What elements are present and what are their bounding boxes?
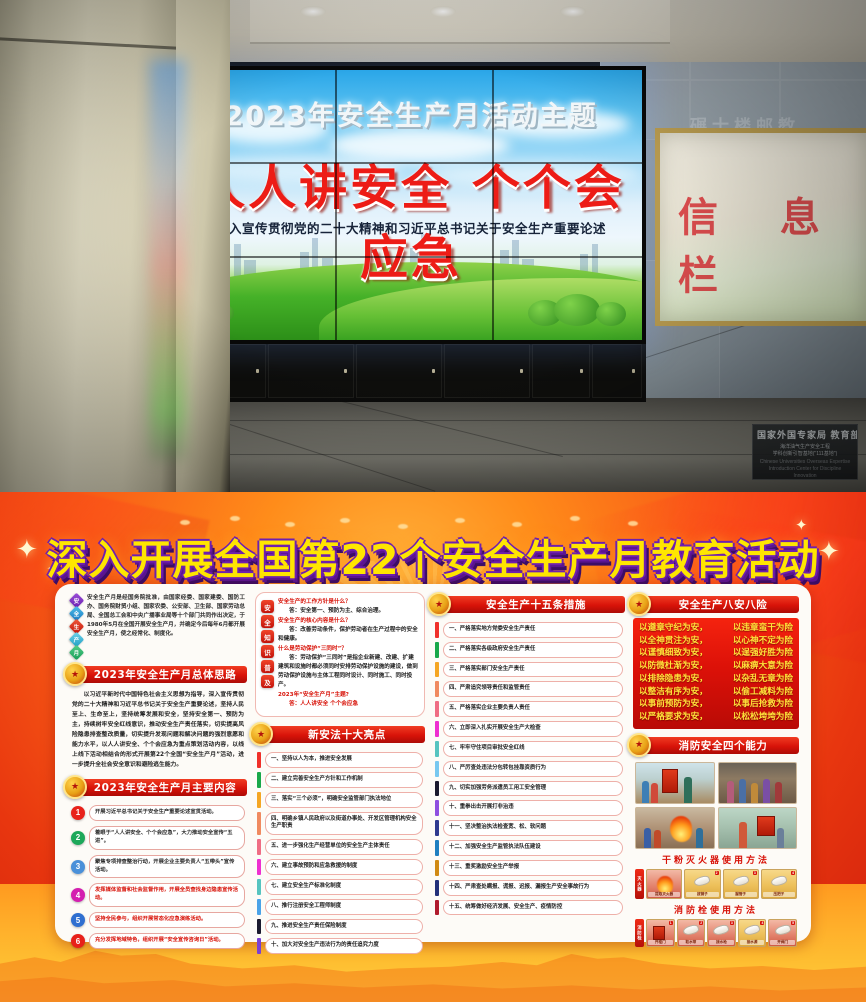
main-content-list: 1 开展习近平总书记关于安全生产重要论述宣贯活动。 2 着眼于“人人讲安全、个个… (69, 801, 247, 949)
item-text: 坚持全民参与，组织开展常态化应急演练活动。 (89, 912, 245, 928)
item-text: 十一、坚决整治执法检查宽、松、软问题 (443, 820, 623, 836)
section-title: 新安法十大亮点 (294, 727, 386, 742)
hand-icon (770, 874, 788, 888)
item-text: 六、建立事故预防和应急救援的制度 (265, 859, 423, 875)
fifteen-measures-list: 一、严格落实地方党委安全生产责任 二、严格落实各级政府安全生产责任 三、严格落实… (433, 618, 625, 915)
scene-evacuation (718, 762, 798, 804)
poster-headline: 深入开展全国第22个安全生产月教育活动 (0, 526, 866, 586)
list-item[interactable]: 六、建立事故预防和应急救援的制度 (257, 859, 423, 875)
emblem-icon: ★ (627, 733, 651, 757)
couplet-row: 以事前预防为安，以事后抢救为险 (636, 698, 796, 711)
list-item[interactable]: 十一、坚决整治执法检查宽、松、软问题 (435, 820, 623, 836)
color-tick (435, 900, 439, 916)
list-item[interactable]: 二、严格落实各级政府安全生产责任 (435, 642, 623, 658)
information-board-title: 信 息 栏 (678, 185, 866, 301)
color-tick (435, 820, 439, 836)
emblem-icon: ★ (627, 592, 651, 616)
safety-poster: ✦ ✦ ✦ ✦ 深入开展全国第22个安全生产月教育活动 安 全 生 产 月 (0, 492, 866, 1002)
item-text: 十四、严肃查处瞒报、谎报、迟报、漏报生产安全事故行为 (443, 880, 623, 896)
list-item[interactable]: 九、切实加强劳务派遣员工用工安全管理 (435, 781, 623, 797)
step-illustration: 2 取水带 (677, 919, 706, 947)
led-video-wall: 2023年安全生产月活动主题 人人讲安全 个个会应急 深入宣传贯彻党的二十大精神… (176, 66, 646, 344)
emblem-icon: ★ (63, 662, 87, 686)
section-header-new-law: ★ 新安法十大亮点 (255, 726, 425, 743)
item-text: 四、明确乡镇人民政府以及街道办事处、开发区管理机构安全生产职责 (265, 812, 423, 836)
column-fifteen-measures: ★ 安全生产十五条措施 一、严格落实地方党委安全生产责任 二、严格落实各级政府安… (433, 592, 625, 919)
qa-body: 安全生产的工作方针是什么？ 答：安全第一、预防为主、综合治理。 安全生产的核心内… (278, 598, 418, 710)
step-caption: 压把子 (763, 892, 795, 897)
plaque-title: 国家外国专家局 教育部 (757, 428, 853, 441)
extinguisher-steps: 灭火器 提取灭火器 2 拔销子 3 握管子 (633, 869, 799, 899)
fire-scene-illustrations (633, 759, 799, 849)
step-badge: 4 (760, 921, 764, 925)
hydrant-steps: 消防栓 1 开柜门 2 取水带 3 接水枪 (633, 919, 799, 951)
qa-question: 什么是劳动保护“三同时”？ (278, 645, 418, 654)
rail-chip: 及 (261, 675, 274, 688)
item-text: 发挥媒体监督和社会监督作用，开展全员查找身边隐患宣传活动。 (89, 883, 245, 907)
list-item[interactable]: 三、严格落实部门安全生产责任 (435, 662, 623, 678)
extinguisher-title: 干粉灭火器使用方法 (633, 853, 799, 866)
step-illustration: 4 压把子 (761, 869, 797, 899)
couplet-left: 以全神贯注为安， (639, 635, 708, 648)
list-item[interactable]: 八、严厉查处违法分包转包挂靠资质行为 (435, 761, 623, 777)
step-badge: 5 (791, 921, 795, 925)
qa-question: 2023年“安全生产月”主题? (278, 691, 418, 700)
color-tick (257, 899, 261, 915)
list-item[interactable]: 十二、加强安全生产监管执法队伍建设 (435, 840, 623, 856)
ceiling-lamp (560, 6, 586, 17)
section-header-fire-safety: ★ 消防安全四个能力 (633, 737, 799, 754)
couplet-left: 以谨慎细致为安， (639, 647, 708, 660)
color-tick (435, 781, 439, 797)
pillar-screen-glow (150, 60, 186, 460)
color-tick (435, 840, 439, 856)
item-text: 一、严格落实地方党委安全生产责任 (443, 622, 623, 638)
diamond-icon: 月 (69, 645, 85, 661)
screenshot-root: 2023年安全生产月活动主题 人人讲安全 个个会应急 深入宣传贯彻党的二十大精神… (0, 0, 866, 1002)
qa-question: 安全生产的核心内容是什么？ (278, 617, 418, 626)
color-tick (435, 800, 439, 816)
item-text: 九、切实加强劳务派遣员工用工安全管理 (443, 781, 623, 797)
scene-check-equipment (635, 762, 715, 804)
step-badge: 2 (699, 921, 703, 925)
item-number: 5 (71, 913, 85, 927)
column-overview: 安 全 生 产 月 安全生产月是经国务院批准，由国家经委、国家建委、国防工办、国… (69, 592, 247, 954)
step-caption: 开阀门 (770, 940, 795, 945)
couplet-block: 以遵章守纪为安，以违章蛮干为险 以全神贯注为安，以心神不定为险 以谨慎细致为安，… (633, 618, 799, 729)
rail-chip: 普 (261, 660, 274, 673)
plaque-line: 学科创新引智基地("111基地") (757, 451, 853, 458)
couplet-right: 以杂乱无章为险 (733, 673, 793, 686)
couplet-row: 以防微杜渐为安，以麻痹大意为险 (636, 660, 796, 673)
list-item[interactable]: 一、坚持以人为本，推进安全发展 (257, 752, 423, 768)
list-item[interactable]: 2 着眼于“人人讲安全、个个会应急”，大力推动安全宣传“五进”。 (71, 826, 245, 850)
couplet-left: 以防微杜渐为安， (639, 660, 708, 673)
color-tick (435, 721, 439, 737)
step-caption: 取水带 (679, 940, 704, 945)
step-badge: 4 (791, 871, 795, 875)
plaque-line: Introduction Center for Discipline Innov… (757, 466, 853, 480)
tree (554, 294, 600, 326)
step-caption: 提取灭火器 (648, 892, 680, 897)
color-tick (435, 880, 439, 896)
hand-icon (732, 874, 750, 888)
section-title: 2023年安全生产月总体思路 (80, 667, 237, 682)
step-illustration: 5 开阀门 (768, 919, 797, 947)
couplet-left: 以整洁有序为安， (639, 686, 708, 699)
step-caption: 开柜门 (648, 940, 673, 945)
section-header-fifteen-measures: ★ 安全生产十五条措施 (433, 596, 625, 613)
list-item[interactable]: 七、牢牢守住项目审批安全红线 (435, 741, 623, 757)
intro-diamond-icons: 安 全 生 产 月 (71, 594, 82, 658)
qa-rail-icons: 安 全 知 识 普 及 (261, 598, 274, 710)
qa-answer: 答：劳动保护“三同时”是指企业新建、改建、扩建建筑和设施时都必须同时安排劳动保护… (278, 654, 418, 690)
item-text: 七、牢牢守住项目审批安全红线 (443, 741, 623, 757)
list-item[interactable]: 八、推行注册安全工程师制度 (257, 899, 423, 915)
qa-block: 安 全 知 识 普 及 安全生产的工作方针是什么？ 答：安全第一、预防为主、综合… (259, 596, 420, 712)
hand-icon (682, 923, 700, 937)
stage-cabinets (176, 340, 646, 402)
couplet-right: 以逞强好胜为险 (733, 647, 793, 660)
color-tick (435, 701, 439, 717)
list-item[interactable]: 七、建立安全生产标准化制度 (257, 879, 423, 895)
list-item[interactable]: 1 开展习近平总书记关于安全生产重要论述宣贯活动。 (71, 805, 245, 821)
couplet-right: 以事后抢救为险 (733, 698, 793, 711)
qa-frame: 安 全 知 识 普 及 安全生产的工作方针是什么？ 答：安全第一、预防为主、综合… (255, 592, 425, 717)
information-board: 信 息 栏 (655, 128, 866, 326)
emblem-icon: ★ (427, 592, 451, 616)
new-law-list: 一、坚持以人为本，推进安全发展 二、建立完善安全生产方针和工作机制 三、落实“三… (255, 748, 425, 954)
color-tick (257, 839, 261, 855)
column-knowledge: 安 全 知 识 普 及 安全生产的工作方针是什么？ 答：安全第一、预防为主、综合… (255, 592, 425, 958)
item-number: 3 (71, 860, 85, 874)
step-illustration: 1 开柜门 (646, 919, 675, 947)
list-item[interactable]: 5 坚持全民参与，组织开展常态化应急演练活动。 (71, 912, 245, 928)
couplet-left: 以严格要求为安， (639, 711, 708, 724)
item-text: 八、严厉查处违法分包转包挂靠资质行为 (443, 761, 623, 777)
color-tick (257, 752, 261, 768)
item-number: 2 (71, 831, 85, 845)
item-text: 开展习近平总书记关于安全生产重要论述宣贯活动。 (89, 805, 245, 821)
list-item[interactable]: 3 聚焦专项排查整治行动，开展企业主要负责人“五带头”宣传活动。 (71, 855, 245, 879)
color-tick (435, 662, 439, 678)
item-text: 十五、统筹做好经济发展、安全生产、疫情防控 (443, 900, 623, 916)
scene-extinguish-fire (635, 807, 715, 849)
couplet-right: 以违章蛮干为险 (733, 622, 793, 635)
item-text: 三、落实“三个必须”，明确安全监管部门执法地位 (265, 792, 423, 808)
color-tick (435, 761, 439, 777)
list-item[interactable]: 五、进一步强化生产经营单位的安全生产主体责任 (257, 839, 423, 855)
step-badge: 3 (730, 921, 734, 925)
color-tick (257, 919, 261, 935)
item-text: 聚焦专项排查整治行动，开展企业主要负责人“五带头”宣传活动。 (89, 855, 245, 879)
couplet-row: 以全神贯注为安，以心神不定为险 (636, 635, 796, 648)
step-illustration: 3 接水枪 (707, 919, 736, 947)
item-text: 六、立即深入扎实开展安全生产大检查 (443, 721, 623, 737)
couplet-row: 以整洁有序为安，以偷工减料为险 (636, 686, 796, 699)
couplet-row: 以谨慎细致为安，以逞强好胜为险 (636, 647, 796, 660)
color-tick (435, 622, 439, 638)
hand-icon (743, 923, 761, 937)
list-item[interactable]: 四、严肃追究领导责任和监管责任 (435, 681, 623, 697)
item-text: 八、推行注册安全工程师制度 (265, 899, 423, 915)
couplet-right: 以麻痹大意为险 (733, 660, 793, 673)
item-text: 五、严格落实企业主要负责人责任 (443, 701, 623, 717)
section-title: 安全生产十五条措施 (472, 597, 586, 612)
couplet-right: 以偷工减料为险 (733, 686, 793, 699)
steps-rail-label: 灭火器 (635, 869, 644, 899)
item-text: 九、推进安全生产责任保险制度 (265, 919, 423, 935)
item-text: 七、建立安全生产标准化制度 (265, 879, 423, 895)
item-number: 4 (71, 888, 85, 902)
item-text: 着眼于“人人讲安全、个个会应急”，大力推动安全宣传“五进”。 (89, 826, 245, 850)
ceiling-lamp (300, 6, 326, 17)
list-item[interactable]: 4 发挥媒体监督和社会监督作用，开展全员查找身边隐患宣传活动。 (71, 883, 245, 907)
couplet-left: 以事前预防为安， (639, 698, 708, 711)
rail-chip: 识 (261, 645, 274, 658)
step-illustration: 4 接水源 (738, 919, 767, 947)
qa-answer: 答：人人讲安全 个个会应急 (278, 700, 418, 709)
venue-photo: 2023年安全生产月活动主题 人人讲安全 个个会应急 深入宣传贯彻党的二十大精神… (0, 0, 866, 492)
led-subtitle: 深入宣传贯彻党的二十大精神和习近平总书记关于安全生产重要论述 (180, 218, 642, 237)
led-title: 2023年安全生产月活动主题 (180, 94, 642, 133)
color-tick (257, 879, 261, 895)
list-item[interactable]: 二、建立完善安全生产方针和工作机制 (257, 772, 423, 788)
item-text: 四、严肃追究领导责任和监管责任 (443, 681, 623, 697)
item-text: 十二、加强安全生产监管执法队伍建设 (443, 840, 623, 856)
hydrant-title: 消防栓使用方法 (633, 903, 799, 916)
color-tick (435, 681, 439, 697)
item-number: 6 (71, 934, 85, 948)
emblem-icon: ★ (249, 722, 273, 746)
color-tick (257, 772, 261, 788)
intro-block: 安 全 生 产 月 安全生产月是经国务院批准，由国家经委、国家建委、国防工办、国… (69, 592, 247, 662)
content-panel: 安 全 生 产 月 安全生产月是经国务院批准，由国家经委、国家建委、国防工办、国… (55, 584, 811, 942)
column-safety-couplets: ★ 安全生产八安八险 以遵章守纪为安，以违章蛮干为险 以全神贯注为安，以心神不定… (633, 592, 799, 951)
color-tick (435, 642, 439, 658)
item-text: 二、严格落实各级政府安全生产责任 (443, 642, 623, 658)
item-text: 充分发挥地域特色，组织开展“安全宣传咨询日”活动。 (89, 933, 245, 949)
hand-icon (712, 923, 730, 937)
color-tick (257, 812, 261, 836)
list-item[interactable]: 三、落实“三个必须”，明确安全监管部门执法地位 (257, 792, 423, 808)
step-caption: 拔销子 (686, 892, 718, 897)
section-title: 安全生产八安八险 (665, 597, 768, 612)
list-item[interactable]: 十三、重奖激励安全生产举报 (435, 860, 623, 876)
list-item[interactable]: 九、推进安全生产责任保险制度 (257, 919, 423, 935)
couplet-right: 以松松垮垮为险 (733, 711, 793, 724)
step-badge: 3 (753, 871, 757, 875)
couplet-left: 以排除隐患为安， (639, 673, 708, 686)
step-badge: 1 (669, 921, 673, 925)
step-badge: 2 (715, 871, 719, 875)
section-header-eight-safe: ★ 安全生产八安八险 (633, 596, 799, 613)
hand-icon (693, 874, 711, 888)
list-item[interactable]: 十四、严肃查处瞒报、谎报、迟报、漏报生产安全事故行为 (435, 880, 623, 896)
step-illustration: 3 握管子 (723, 869, 759, 899)
emblem-icon: ★ (63, 775, 87, 799)
step-caption: 接水枪 (709, 940, 734, 945)
qa-answer: 答：安全第一、预防为主、综合治理。 (278, 607, 418, 616)
step-illustration: 提取灭火器 (646, 869, 682, 899)
item-number: 1 (71, 806, 85, 820)
list-item[interactable]: 六、立即深入扎实开展安全生产大检查 (435, 721, 623, 737)
color-tick (257, 859, 261, 875)
list-item[interactable]: 五、严格落实企业主要负责人责任 (435, 701, 623, 717)
list-item[interactable]: 四、明确乡镇人民政府以及街道办事处、开发区管理机构安全生产职责 (257, 812, 423, 836)
pillar-ring (0, 37, 176, 49)
color-tick (435, 741, 439, 757)
color-tick (257, 792, 261, 808)
section-title: 消防安全四个能力 (665, 738, 768, 753)
rail-chip: 全 (261, 615, 274, 628)
item-text: 五、进一步强化生产经营单位的安全生产主体责任 (265, 839, 423, 855)
couplet-row: 以遵章守纪为安，以违章蛮干为险 (636, 622, 796, 635)
item-text: 一、坚持以人为本，推进安全发展 (265, 752, 423, 768)
qa-question: 安全生产的工作方针是什么？ (278, 598, 418, 607)
list-item[interactable]: 6 充分发挥地域特色，组织开展“安全宣传咨询日”活动。 (71, 933, 245, 949)
item-text: 十、加大对安全生产违法行为的责任追究力度 (265, 938, 423, 954)
section-header-main-content: ★ 2023年安全生产月主要内容 (69, 779, 247, 796)
scene-alarm-box (718, 807, 798, 849)
steps-rail-label: 消防栓 (635, 919, 644, 947)
item-text: 二、建立完善安全生产方针和工作机制 (265, 772, 423, 788)
tree (596, 302, 626, 326)
list-item[interactable]: 十、重拳出击开展打非治违 (435, 800, 623, 816)
qa-answer: 答：改善劳动条件，保护劳动者在生产过程中的安全和健康。 (278, 626, 418, 644)
list-item[interactable]: 十五、统筹做好经济发展、安全生产、疫情防控 (435, 900, 623, 916)
item-text: 三、严格落实部门安全生产责任 (443, 662, 623, 678)
section-header-overall-plan: ★ 2023年安全生产月总体思路 (69, 666, 247, 683)
couplet-left: 以遵章守纪为安， (639, 622, 708, 635)
couplet-row: 以排除隐患为安，以杂乱无章为险 (636, 673, 796, 686)
list-item[interactable]: 一、严格落实地方党委安全生产责任 (435, 622, 623, 638)
rail-chip: 安 (261, 600, 274, 613)
rail-chip: 知 (261, 630, 274, 643)
step-caption: 接水源 (740, 940, 765, 945)
color-tick (257, 938, 261, 954)
section-title: 2023年安全生产月主要内容 (80, 780, 237, 795)
item-text: 十三、重奖激励安全生产举报 (443, 860, 623, 876)
hand-icon (774, 923, 792, 937)
couplet-row: 以严格要求为安，以松松垮垮为险 (636, 711, 796, 724)
intro-text: 安全生产月是经国务院批准，由国家经委、国家建委、国防工办、国务院财贸小组、国家农… (87, 594, 245, 658)
institution-plaque: 国家外国专家局 教育部 海洋油气生产安全工程 学科创新引智基地("111基地")… (752, 424, 858, 480)
color-tick (435, 860, 439, 876)
couplet-right: 以心神不定为险 (733, 635, 793, 648)
overall-plan-body: 以习近平新时代中国特色社会主义思想为指导，深入宣传贯彻党的二十大精神和习近平总书… (69, 688, 247, 771)
item-text: 十、重拳出击开展打非治违 (443, 800, 623, 816)
step-caption: 握管子 (725, 892, 757, 897)
list-item[interactable]: 十、加大对安全生产违法行为的责任追究力度 (257, 938, 423, 954)
plaque-line: Chinese Universities Overseas Expertise (757, 459, 853, 466)
step-illustration: 2 拔销子 (684, 869, 720, 899)
ceiling-lamp (430, 6, 456, 17)
